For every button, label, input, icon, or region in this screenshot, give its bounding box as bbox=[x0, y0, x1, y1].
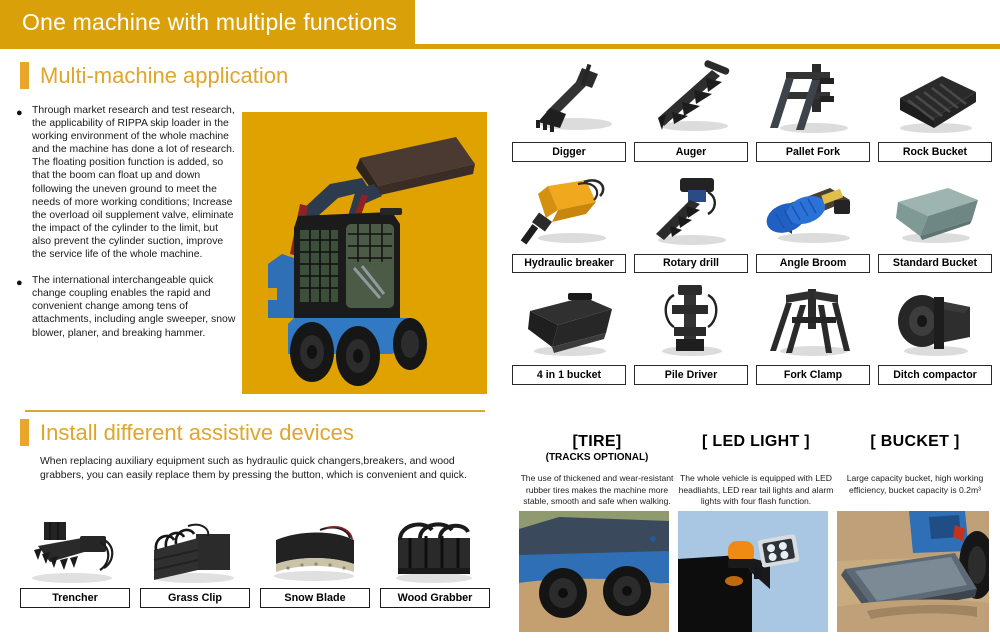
attachment-cell[interactable]: Pile Driver bbox=[634, 281, 748, 385]
attachment-label: Auger bbox=[634, 142, 748, 162]
attachment-cell[interactable]: Fork Clamp bbox=[756, 281, 870, 385]
grass-clip-icon bbox=[140, 516, 250, 588]
digger-icon bbox=[512, 58, 626, 142]
feature-description: Large capacity bucket, high working effi… bbox=[835, 473, 995, 496]
list-item: ● The international interchangeable quic… bbox=[16, 274, 238, 339]
attachment-cell[interactable]: Ditch compactor bbox=[878, 281, 992, 385]
feature-subtitle: (TRACKS OPTIONAL) bbox=[517, 451, 677, 464]
hydraulic-breaker-icon bbox=[512, 170, 626, 254]
feature-description: The whole vehicle is equipped with LED h… bbox=[676, 473, 836, 508]
page-title: One machine with multiple functions bbox=[22, 9, 397, 36]
tool-label: Grass Clip bbox=[140, 588, 250, 608]
attachment-cell[interactable]: Rotary drill bbox=[634, 170, 748, 274]
attachment-grid: Digger Auger bbox=[512, 58, 992, 393]
heading-accent-bar bbox=[20, 419, 29, 446]
attachment-label: Rock Bucket bbox=[878, 142, 992, 162]
attachment-cell[interactable]: 4 in 1 bucket bbox=[512, 281, 626, 385]
ditch-compactor-icon bbox=[878, 281, 992, 365]
multi-machine-bullet-list: ● Through market research and test resea… bbox=[16, 104, 238, 353]
attachment-label: Pile Driver bbox=[634, 365, 748, 385]
feature-tire: [TIRE] (TRACKS OPTIONAL) The use of thic… bbox=[517, 432, 677, 508]
trencher-icon bbox=[20, 516, 130, 588]
install-description: When replacing auxiliary equipment such … bbox=[40, 455, 470, 483]
brochure-page: One machine with multiple functions Mult… bbox=[0, 0, 1000, 643]
tool-label: Snow Blade bbox=[260, 588, 370, 608]
attachment-cell[interactable]: Rock Bucket bbox=[878, 58, 992, 162]
fork-clamp-icon bbox=[756, 281, 870, 365]
skid-loader-photo bbox=[242, 112, 487, 394]
four-in-one-bucket-icon bbox=[512, 281, 626, 365]
bullet-dot-icon: ● bbox=[16, 274, 32, 339]
tires-photo bbox=[519, 511, 669, 632]
feature-title: [TIRE] bbox=[517, 432, 677, 451]
attachment-row: 4 in 1 bucket Pile Driver bbox=[512, 281, 992, 385]
attachment-cell[interactable]: Hydraulic breaker bbox=[512, 170, 626, 274]
heading-accent-bar bbox=[20, 62, 29, 89]
attachment-label: Hydraulic breaker bbox=[512, 254, 626, 274]
attachment-cell[interactable]: Pallet Fork bbox=[756, 58, 870, 162]
section-divider bbox=[25, 410, 485, 412]
snow-blade-icon bbox=[260, 516, 370, 588]
attachment-row: Digger Auger bbox=[512, 58, 992, 162]
attachment-label: Digger bbox=[512, 142, 626, 162]
feature-led-light: [ LED LIGHT ] The whole vehicle is equip… bbox=[676, 432, 836, 508]
pallet-fork-icon bbox=[756, 58, 870, 142]
feature-bucket: [ BUCKET ] Large capacity bucket, high w… bbox=[835, 432, 995, 496]
bullet-text: The international interchangeable quick … bbox=[32, 274, 238, 339]
led-light-photo bbox=[678, 511, 828, 632]
feature-title: [ BUCKET ] bbox=[835, 432, 995, 451]
attachment-cell[interactable]: Angle Broom bbox=[756, 170, 870, 274]
tool-cell[interactable]: Trencher bbox=[20, 516, 130, 608]
section-heading-label: Install different assistive devices bbox=[40, 420, 354, 446]
tool-label: Wood Grabber bbox=[380, 588, 490, 608]
angle-broom-icon bbox=[756, 170, 870, 254]
bucket-photo bbox=[837, 511, 989, 632]
auger-icon bbox=[634, 58, 748, 142]
rotary-drill-icon bbox=[634, 170, 748, 254]
attachment-label: Rotary drill bbox=[634, 254, 748, 274]
attachment-label: 4 in 1 bucket bbox=[512, 365, 626, 385]
attachment-label: Ditch compactor bbox=[878, 365, 992, 385]
rock-bucket-icon bbox=[878, 58, 992, 142]
feature-title: [ LED LIGHT ] bbox=[676, 432, 836, 451]
section-heading-install-devices: Install different assistive devices bbox=[20, 419, 354, 446]
bullet-text: Through market research and test researc… bbox=[32, 104, 238, 261]
attachment-cell[interactable]: Standard Bucket bbox=[878, 170, 992, 274]
attachment-cell[interactable]: Auger bbox=[634, 58, 748, 162]
wood-grabber-icon bbox=[380, 516, 490, 588]
section-heading-label: Multi-machine application bbox=[40, 63, 288, 89]
pile-driver-icon bbox=[634, 281, 748, 365]
section-heading-multi-machine: Multi-machine application bbox=[20, 62, 288, 89]
attachment-label: Fork Clamp bbox=[756, 365, 870, 385]
attachment-row: Hydraulic breaker bbox=[512, 170, 992, 274]
attachment-label: Angle Broom bbox=[756, 254, 870, 274]
assistive-device-row: Trencher Grass Clip bbox=[20, 516, 490, 608]
feature-description: The use of thickened and wear-resistant … bbox=[517, 473, 677, 508]
attachment-cell[interactable]: Digger bbox=[512, 58, 626, 162]
tool-cell[interactable]: Snow Blade bbox=[260, 516, 370, 608]
standard-bucket-icon bbox=[878, 170, 992, 254]
header-divider bbox=[0, 44, 1000, 49]
tool-label: Trencher bbox=[20, 588, 130, 608]
tool-cell[interactable]: Grass Clip bbox=[140, 516, 250, 608]
attachment-label: Pallet Fork bbox=[756, 142, 870, 162]
tool-cell[interactable]: Wood Grabber bbox=[380, 516, 490, 608]
attachment-label: Standard Bucket bbox=[878, 254, 992, 274]
bullet-dot-icon: ● bbox=[16, 104, 32, 261]
list-item: ● Through market research and test resea… bbox=[16, 104, 238, 261]
